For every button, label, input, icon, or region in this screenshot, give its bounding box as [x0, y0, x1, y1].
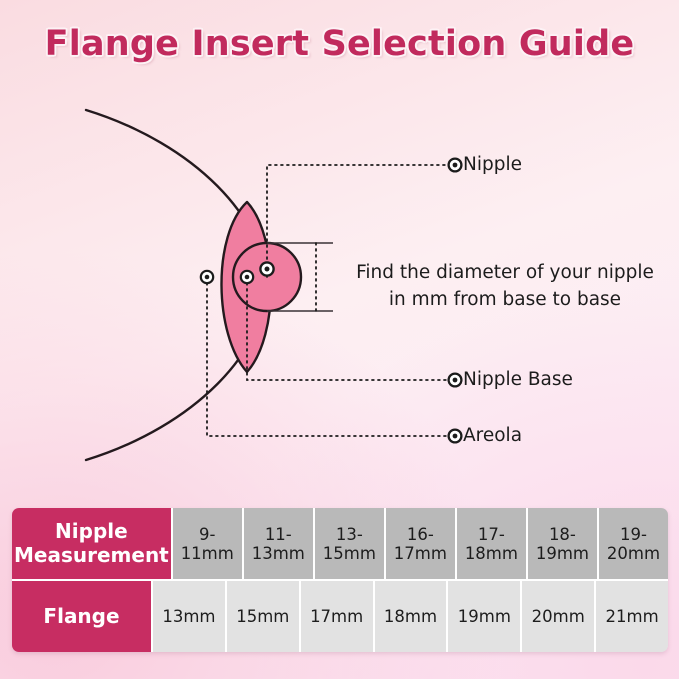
row-header-line-1: Nipple — [14, 520, 169, 544]
page-title: Flange Insert Selection Guide — [0, 24, 679, 64]
flange-cell-2: 15mm — [227, 581, 301, 652]
measurement-cell-5: 17-18mm — [457, 508, 528, 581]
flange-size-table: Nipple Measurement 9-11mm 11-13mm 13-15m… — [12, 508, 668, 652]
marker-areola-edge — [201, 271, 213, 283]
measurement-cell-4: 16-17mm — [386, 508, 457, 581]
table-row-measurement: Nipple Measurement 9-11mm 11-13mm 13-15m… — [12, 508, 668, 581]
marker-label-nipple-base — [449, 374, 462, 387]
measurement-cell-2: 11-13mm — [244, 508, 315, 581]
flange-cell-3: 17mm — [301, 581, 375, 652]
marker-nipple-center — [260, 262, 273, 275]
measurement-cell-1: 9-11mm — [173, 508, 244, 581]
table-row-flange: Flange 13mm 15mm 17mm 18mm 19mm 20mm 21m… — [12, 581, 668, 652]
flange-cell-7: 21mm — [596, 581, 668, 652]
flange-guide-page: Flange Insert Selection Guide — [0, 0, 679, 679]
marker-label-areola — [449, 430, 462, 443]
label-areola: Areola — [463, 424, 522, 448]
measurement-cell-6: 18-19mm — [528, 508, 599, 581]
marker-label-nipple — [449, 159, 462, 172]
flange-cell-5: 19mm — [448, 581, 522, 652]
row-header-flange: Flange — [12, 581, 153, 652]
row-header-flange-label: Flange — [43, 605, 119, 629]
measurement-cell-3: 13-15mm — [315, 508, 386, 581]
measurement-instruction-line2: in mm from base to base — [340, 286, 670, 313]
flange-cell-4: 18mm — [375, 581, 449, 652]
label-nipple: Nipple — [463, 153, 522, 177]
row-header-line-2: Measurement — [14, 544, 169, 568]
row-header-nipple-measurement: Nipple Measurement — [12, 508, 173, 581]
flange-cell-1: 13mm — [153, 581, 227, 652]
label-nipple-base: Nipple Base — [463, 368, 573, 392]
measurement-cell-7: 19-20mm — [599, 508, 668, 581]
measurement-instruction-line1: Find the diameter of your nipple — [340, 259, 670, 286]
measurement-instruction: Find the diameter of your nipple in mm f… — [340, 259, 670, 313]
flange-cell-6: 20mm — [522, 581, 596, 652]
marker-nipple-base — [241, 271, 253, 283]
